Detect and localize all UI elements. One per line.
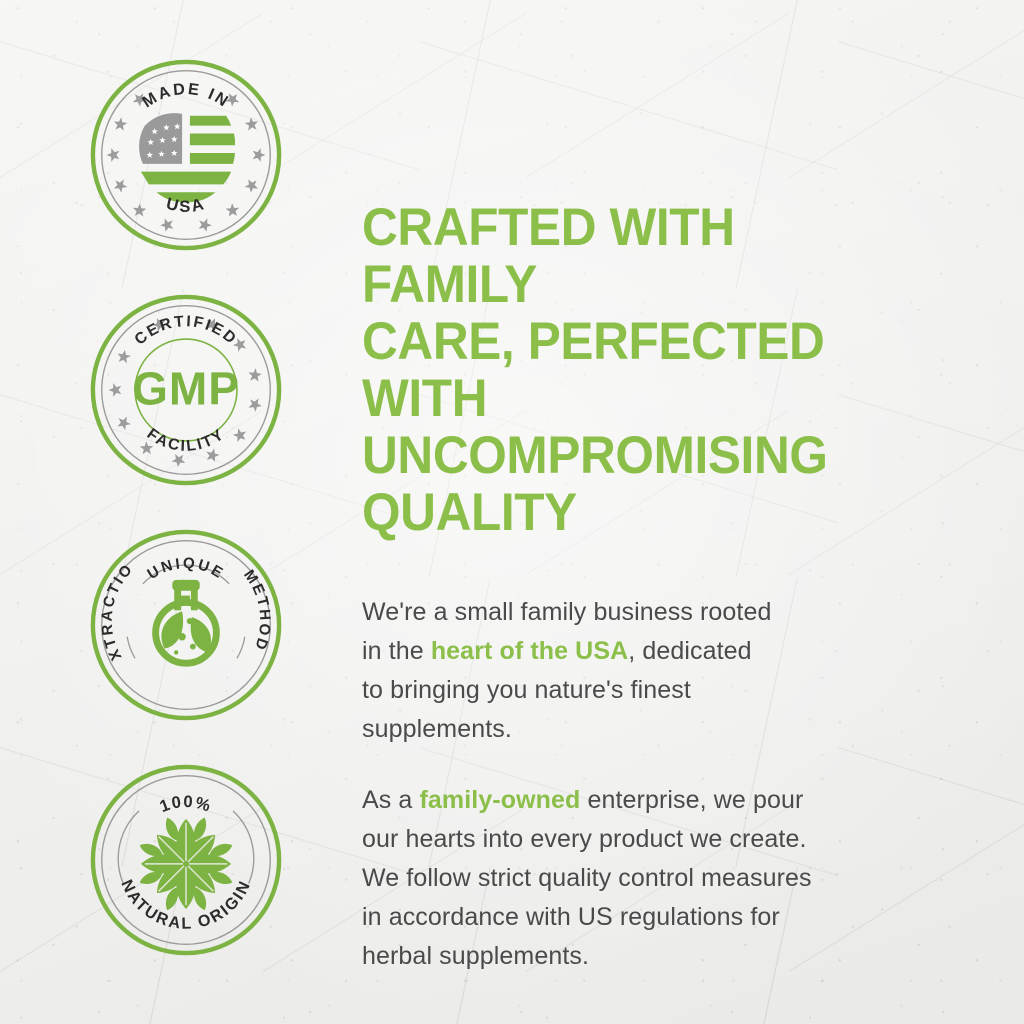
paragraph-one: We're a small family business rooted in … xyxy=(362,593,918,749)
content-column: CRAFTED WITH FAMILY CARE, PERFECTED WITH… xyxy=(362,199,918,976)
gmp-text-icon: GMP xyxy=(132,363,240,415)
promo-page: MADE IN USA xyxy=(0,0,1024,1024)
badge-top-text: 100% xyxy=(157,792,214,816)
made-in-usa-badge: MADE IN USA xyxy=(88,57,284,253)
badge-top-text: CERTIFIED xyxy=(132,313,241,348)
badge-decor-arc-right xyxy=(237,637,245,659)
badge-decor-arc-left xyxy=(118,811,139,884)
badge-bottom-text: USA xyxy=(164,194,207,216)
usa-flag-circle-icon xyxy=(139,113,235,202)
gmp-certified-badge: GMP CERTIFIED FACILITY xyxy=(88,292,284,488)
badge-top-text: MADE IN xyxy=(139,80,233,112)
flask-with-leaves-icon xyxy=(156,580,217,663)
natural-origin-badge: 100% NATURAL ORIGIN xyxy=(88,762,284,958)
paragraph-two-part-1: As a xyxy=(362,786,419,814)
trust-badges-column: MADE IN USA xyxy=(88,57,300,958)
paragraph-two-highlight: family-owned xyxy=(419,786,580,814)
paragraph-one-highlight: heart of the USA xyxy=(431,637,628,665)
leaf-rosette-icon xyxy=(138,816,235,913)
paragraph-two: As a family-owned enterprise, we pour ou… xyxy=(362,781,918,976)
page-headline: CRAFTED WITH FAMILY CARE, PERFECTED WITH… xyxy=(362,199,882,541)
badge-top-text: UNIQUE xyxy=(145,555,228,583)
badge-bottom-text: FACILITY xyxy=(144,425,229,455)
body-copy: We're a small family business rooted in … xyxy=(362,593,918,976)
badge-decor-arc-left xyxy=(127,637,135,659)
badge-decor-arc-right xyxy=(233,811,254,884)
unique-extraction-method-badge: UNIQUE EXTRACTION METHOD xyxy=(88,527,284,723)
